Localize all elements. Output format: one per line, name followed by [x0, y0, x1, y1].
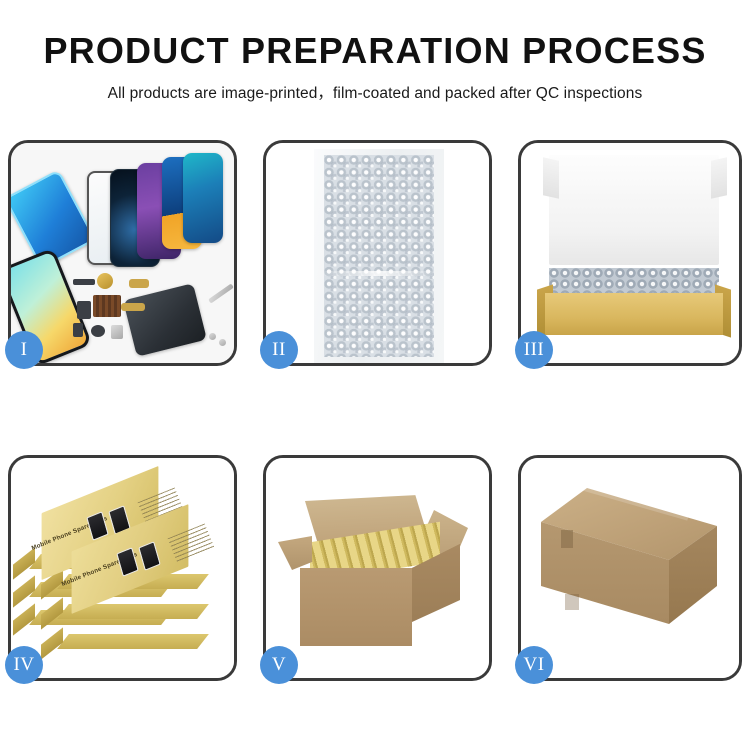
- stacked-box-side: [13, 547, 35, 579]
- step-card-2: II: [263, 140, 492, 366]
- step-image-3: [521, 143, 739, 363]
- step-card-4: Mobile Phone Spare Parts Mobile Phone Sp…: [8, 455, 237, 681]
- step-badge-4: IV: [5, 646, 43, 684]
- part-flex-cable-2: [121, 303, 145, 311]
- part-screw-1: [209, 333, 216, 340]
- part-camera-module: [77, 301, 91, 319]
- part-tweezers: [208, 283, 234, 303]
- step-image-1: [11, 143, 234, 363]
- steps-grid: I II III: [8, 140, 742, 681]
- carton-tape-mark-top: [561, 530, 573, 548]
- carton-flap-left: [278, 536, 312, 570]
- step-badge-6: VI: [515, 646, 553, 684]
- page-title: PRODUCT PREPARATION PROCESS: [0, 30, 750, 71]
- step-badge-2: II: [260, 331, 298, 369]
- part-screw-2: [219, 339, 226, 346]
- phone-teal: [183, 153, 223, 243]
- part-bracket: [111, 325, 123, 339]
- step-image-5: [266, 458, 489, 678]
- part-button: [73, 323, 83, 337]
- stacked-box-front: [57, 634, 209, 649]
- part-flex-cable-1: [129, 279, 149, 288]
- box-lid-flap-right: [711, 157, 727, 198]
- step-badge-3: III: [515, 331, 553, 369]
- box-lid-white: [549, 155, 719, 265]
- part-circuit-board: [93, 295, 121, 317]
- step-card-3: III: [518, 140, 742, 366]
- wrap-seam: [324, 271, 434, 276]
- step-card-1: I: [8, 140, 237, 366]
- stacked-box-side: [13, 575, 35, 607]
- step-image-4: Mobile Phone Spare Parts Mobile Phone Sp…: [11, 458, 234, 678]
- carton-front: [300, 568, 412, 646]
- step-image-6: [521, 458, 739, 678]
- step-image-2: [266, 143, 489, 363]
- box-tray-front: [545, 293, 723, 335]
- stacked-box-side: [41, 627, 63, 659]
- step-card-5: V: [263, 455, 492, 681]
- part-speaker: [97, 273, 113, 289]
- step-badge-5: V: [260, 646, 298, 684]
- header: PRODUCT PREPARATION PROCESS All products…: [0, 0, 750, 103]
- stacked-box-side: [13, 603, 35, 635]
- phone-back-housing: [123, 283, 207, 357]
- part-connector: [73, 279, 95, 285]
- page-subtitle: All products are image-printed，film-coat…: [0, 81, 750, 103]
- part-vibrator: [91, 325, 105, 337]
- carton-tape-mark-bottom: [565, 594, 579, 610]
- step-card-6: VI: [518, 455, 742, 681]
- box-lid-flap-left: [543, 157, 559, 198]
- step-badge-1: I: [5, 331, 43, 369]
- bubble-wrap-texture: [324, 155, 434, 357]
- product-preparation-infographic: PRODUCT PREPARATION PROCESS All products…: [0, 0, 750, 750]
